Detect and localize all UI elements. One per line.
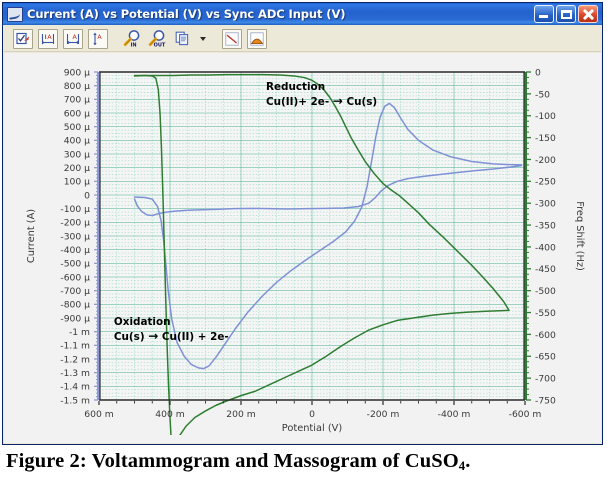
svg-text:-500: -500 xyxy=(535,286,556,297)
svg-text:-800 µ: -800 µ xyxy=(60,300,90,311)
maximize-button[interactable] xyxy=(556,5,576,23)
oxidation-annotation-title: Oxidation xyxy=(114,316,171,328)
svg-text:-350: -350 xyxy=(535,220,556,231)
svg-text:600 m: 600 m xyxy=(84,409,113,420)
svg-text:A: A xyxy=(97,33,102,41)
figure-caption-suffix: . xyxy=(465,450,470,472)
svg-text:A: A xyxy=(72,33,77,41)
autoscale-y-axis-tool[interactable]: A xyxy=(88,29,108,49)
svg-text:-300 µ: -300 µ xyxy=(60,231,90,242)
svg-text:-600 µ: -600 µ xyxy=(60,272,90,283)
svg-text:200 m: 200 m xyxy=(226,409,255,420)
svg-text:400 µ: 400 µ xyxy=(64,136,90,147)
window-titlebar[interactable]: Current (A) vs Potential (V) vs Sync ADC… xyxy=(3,3,602,25)
autoscale-both-axes-icon: A xyxy=(41,32,55,46)
window-title: Current (A) vs Potential (V) vs Sync ADC… xyxy=(27,7,534,21)
svg-text:-200: -200 xyxy=(535,155,556,166)
area-plot-tool[interactable] xyxy=(247,29,267,49)
svg-text:-600: -600 xyxy=(535,330,556,341)
svg-text:-400 m: -400 m xyxy=(438,409,471,420)
zoom-in-icon: IN xyxy=(123,29,142,48)
area-plot-icon xyxy=(250,32,264,46)
svg-text:-450: -450 xyxy=(535,264,556,275)
svg-text:-700: -700 xyxy=(535,374,556,385)
svg-text:-700 µ: -700 µ xyxy=(60,286,90,297)
close-button[interactable] xyxy=(578,5,598,23)
svg-text:A: A xyxy=(47,33,52,41)
autoscale-x-axis-icon: A xyxy=(66,32,80,46)
svg-text:-100: -100 xyxy=(535,111,556,122)
svg-text:-1.1 m: -1.1 m xyxy=(60,341,90,352)
svg-text:-1.2 m: -1.2 m xyxy=(60,354,90,365)
reduction-annotation-equation: Cu(II)+ 2e- → Cu(s) xyxy=(266,94,377,108)
cursor-select-tool[interactable] xyxy=(13,29,33,49)
zoom-out-tool[interactable]: OUT xyxy=(147,29,167,49)
graph-window: Current (A) vs Potential (V) vs Sync ADC… xyxy=(2,2,603,445)
svg-text:-650: -650 xyxy=(535,352,556,363)
svg-text:-400: -400 xyxy=(535,242,556,253)
svg-text:400 m: 400 m xyxy=(155,409,184,420)
svg-text:-50: -50 xyxy=(535,89,550,100)
svg-text:OUT: OUT xyxy=(153,43,165,48)
svg-text:200 µ: 200 µ xyxy=(64,163,90,174)
svg-text:0: 0 xyxy=(309,409,315,420)
plot-container[interactable]: 900 µ800 µ700 µ600 µ500 µ400 µ300 µ200 µ… xyxy=(15,61,593,435)
copy-dropdown-arrow[interactable] xyxy=(197,29,208,49)
svg-text:0: 0 xyxy=(84,190,90,201)
svg-text:-1.4 m: -1.4 m xyxy=(60,382,90,393)
svg-text:800 µ: 800 µ xyxy=(64,81,90,92)
svg-text:-1.3 m: -1.3 m xyxy=(60,368,90,379)
y-axis-title: Current (A) xyxy=(26,209,37,263)
svg-text:-600 m: -600 m xyxy=(509,409,542,420)
svg-text:IN: IN xyxy=(130,43,136,48)
svg-text:100 µ: 100 µ xyxy=(64,177,90,188)
voltammogram-plot[interactable]: 900 µ800 µ700 µ600 µ500 µ400 µ300 µ200 µ… xyxy=(15,61,593,435)
svg-text:900 µ: 900 µ xyxy=(64,67,90,78)
svg-text:0: 0 xyxy=(535,67,541,78)
svg-text:-400 µ: -400 µ xyxy=(60,245,90,256)
graph-pane: 900 µ800 µ700 µ600 µ500 µ400 µ300 µ200 µ… xyxy=(4,53,601,443)
svg-text:600 µ: 600 µ xyxy=(64,108,90,119)
line-plot-tool[interactable] xyxy=(222,29,242,49)
svg-text:-750: -750 xyxy=(535,395,556,406)
svg-text:-250: -250 xyxy=(535,177,556,188)
window-controls xyxy=(534,5,600,23)
zoom-out-icon: OUT xyxy=(148,29,167,48)
svg-text:-1 m: -1 m xyxy=(69,327,90,338)
svg-text:-550: -550 xyxy=(535,308,556,319)
figure-caption-prefix: Figure 2: Voltammogram and Massogram of … xyxy=(6,450,459,472)
autoscale-both-axes-tool[interactable]: A xyxy=(38,29,58,49)
autoscale-x-axis-tool[interactable]: A xyxy=(63,29,83,49)
reduction-annotation-title: Reduction xyxy=(266,81,325,93)
minimize-button[interactable] xyxy=(534,5,554,23)
x-axis-title: Potential (V) xyxy=(282,423,342,434)
svg-text:500 µ: 500 µ xyxy=(64,122,90,133)
svg-text:700 µ: 700 µ xyxy=(64,95,90,106)
cursor-select-icon xyxy=(16,32,30,46)
svg-text:-500 µ: -500 µ xyxy=(60,259,90,270)
svg-text:300 µ: 300 µ xyxy=(64,149,90,160)
svg-text:-900 µ: -900 µ xyxy=(60,313,90,324)
svg-text:-200 m: -200 m xyxy=(367,409,400,420)
zoom-in-tool[interactable]: IN xyxy=(122,29,142,49)
graph-toolbar: A A A IN xyxy=(4,26,601,52)
figure-caption: Figure 2: Voltammogram and Massogram of … xyxy=(6,450,601,474)
graph-window-icon xyxy=(7,7,23,22)
svg-text:-1.5 m: -1.5 m xyxy=(60,395,90,406)
svg-text:-100 µ: -100 µ xyxy=(60,204,90,215)
line-plot-icon xyxy=(225,32,239,46)
svg-text:-150: -150 xyxy=(535,133,556,144)
svg-text:-300: -300 xyxy=(535,199,556,210)
y2-axis-title: Freq Shift (Hz) xyxy=(574,201,585,271)
svg-text:-200 µ: -200 µ xyxy=(60,218,90,229)
oxidation-annotation-equation: Cu(s) → Cu(II) + 2e- xyxy=(114,329,229,343)
autoscale-y-axis-icon: A xyxy=(91,32,105,46)
copy-tool[interactable] xyxy=(172,29,192,49)
copy-icon xyxy=(175,31,190,46)
